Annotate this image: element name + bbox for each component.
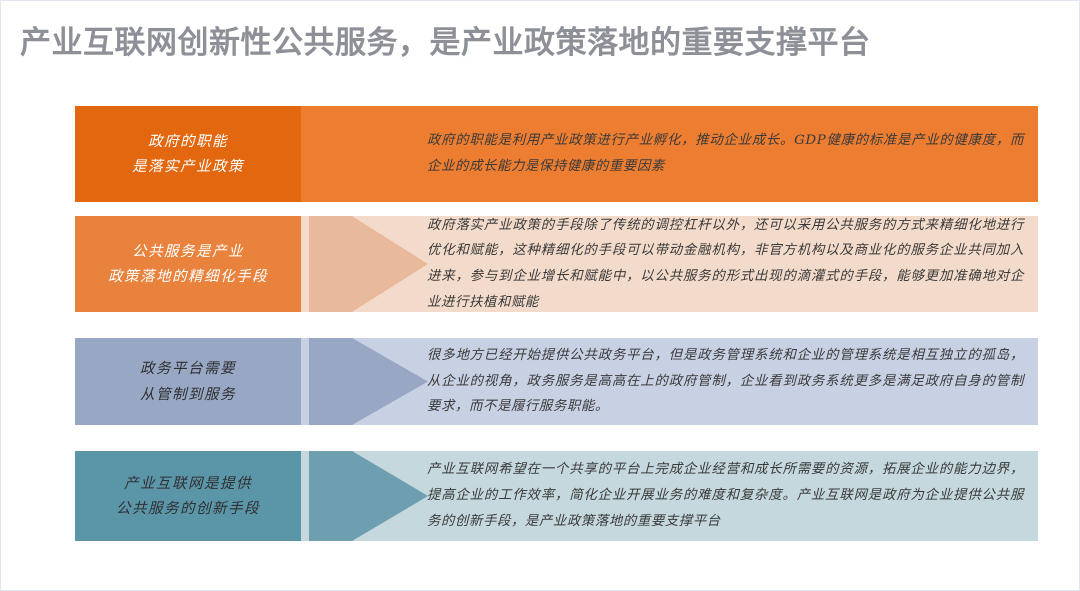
arrow-row: 产业互联网希望在一个共享的平台上完成企业经营和成长所需要的资源，拓展企业的能力边… bbox=[75, 451, 1038, 541]
row-label-line: 政府的职能 bbox=[148, 129, 228, 154]
row-label-line: 公共服务的创新手段 bbox=[116, 496, 260, 521]
row-label-line: 是落实产业政策 bbox=[132, 154, 244, 179]
arrow-pointer-icon bbox=[309, 106, 427, 202]
row-label-block: 公共服务是产业政策落地的精细化手段 bbox=[75, 216, 301, 312]
row-body-text: 很多地方已经开始提供公共政务平台，但是政务管理系统和企业的管理系统是相互独立的孤… bbox=[427, 343, 1024, 420]
arrow-row: 政府的职能是利用产业政策进行产业孵化，推动企业成长。GDP健康的标准是产业的健康… bbox=[75, 106, 1038, 202]
row-label-line: 产业互联网是提供 bbox=[124, 471, 252, 496]
row-label-block: 政务平台需要从管制到服务 bbox=[75, 338, 301, 425]
row-body-text: 产业互联网希望在一个共享的平台上完成企业经营和成长所需要的资源，拓展企业的能力边… bbox=[427, 457, 1024, 534]
row-body-text: 政府的职能是利用产业政策进行产业孵化，推动企业成长。GDP健康的标准是产业的健康… bbox=[427, 128, 1024, 179]
row-body-text: 政府落实产业政策的手段除了传统的调控杠杆以外，还可以采用公共服务的方式来精细化地… bbox=[427, 213, 1024, 316]
arrow-stub bbox=[309, 451, 353, 541]
row-label-block: 政府的职能是落实产业政策 bbox=[75, 106, 301, 202]
row-label-line: 政务平台需要 bbox=[140, 356, 236, 381]
row-label-line: 公共服务是产业 bbox=[132, 239, 244, 264]
arrow-row: 政府落实产业政策的手段除了传统的调控杠杆以外，还可以采用公共服务的方式来精细化地… bbox=[75, 216, 1038, 312]
row-label-line: 政策落地的精细化手段 bbox=[108, 264, 268, 289]
arrow-rows-container: 政府的职能是利用产业政策进行产业孵化，推动企业成长。GDP健康的标准是产业的健康… bbox=[1, 1, 1080, 591]
arrow-stub bbox=[309, 106, 353, 202]
arrow-pointer-icon bbox=[309, 216, 427, 312]
arrow-row: 很多地方已经开始提供公共政务平台，但是政务管理系统和企业的管理系统是相互独立的孤… bbox=[75, 338, 1038, 425]
slide-canvas: 产业互联网创新性公共服务，是产业政策落地的重要支撑平台 政府的职能是利用产业政策… bbox=[0, 0, 1080, 591]
arrow-stub bbox=[309, 338, 353, 425]
arrow-head bbox=[352, 338, 428, 425]
arrow-pointer-icon bbox=[309, 338, 427, 425]
row-label-line: 从管制到服务 bbox=[140, 382, 236, 407]
arrow-head bbox=[352, 216, 428, 312]
arrow-head bbox=[352, 451, 428, 541]
arrow-pointer-icon bbox=[309, 451, 427, 541]
arrow-head bbox=[352, 106, 428, 202]
row-label-block: 产业互联网是提供公共服务的创新手段 bbox=[75, 451, 301, 541]
arrow-stub bbox=[309, 216, 353, 312]
